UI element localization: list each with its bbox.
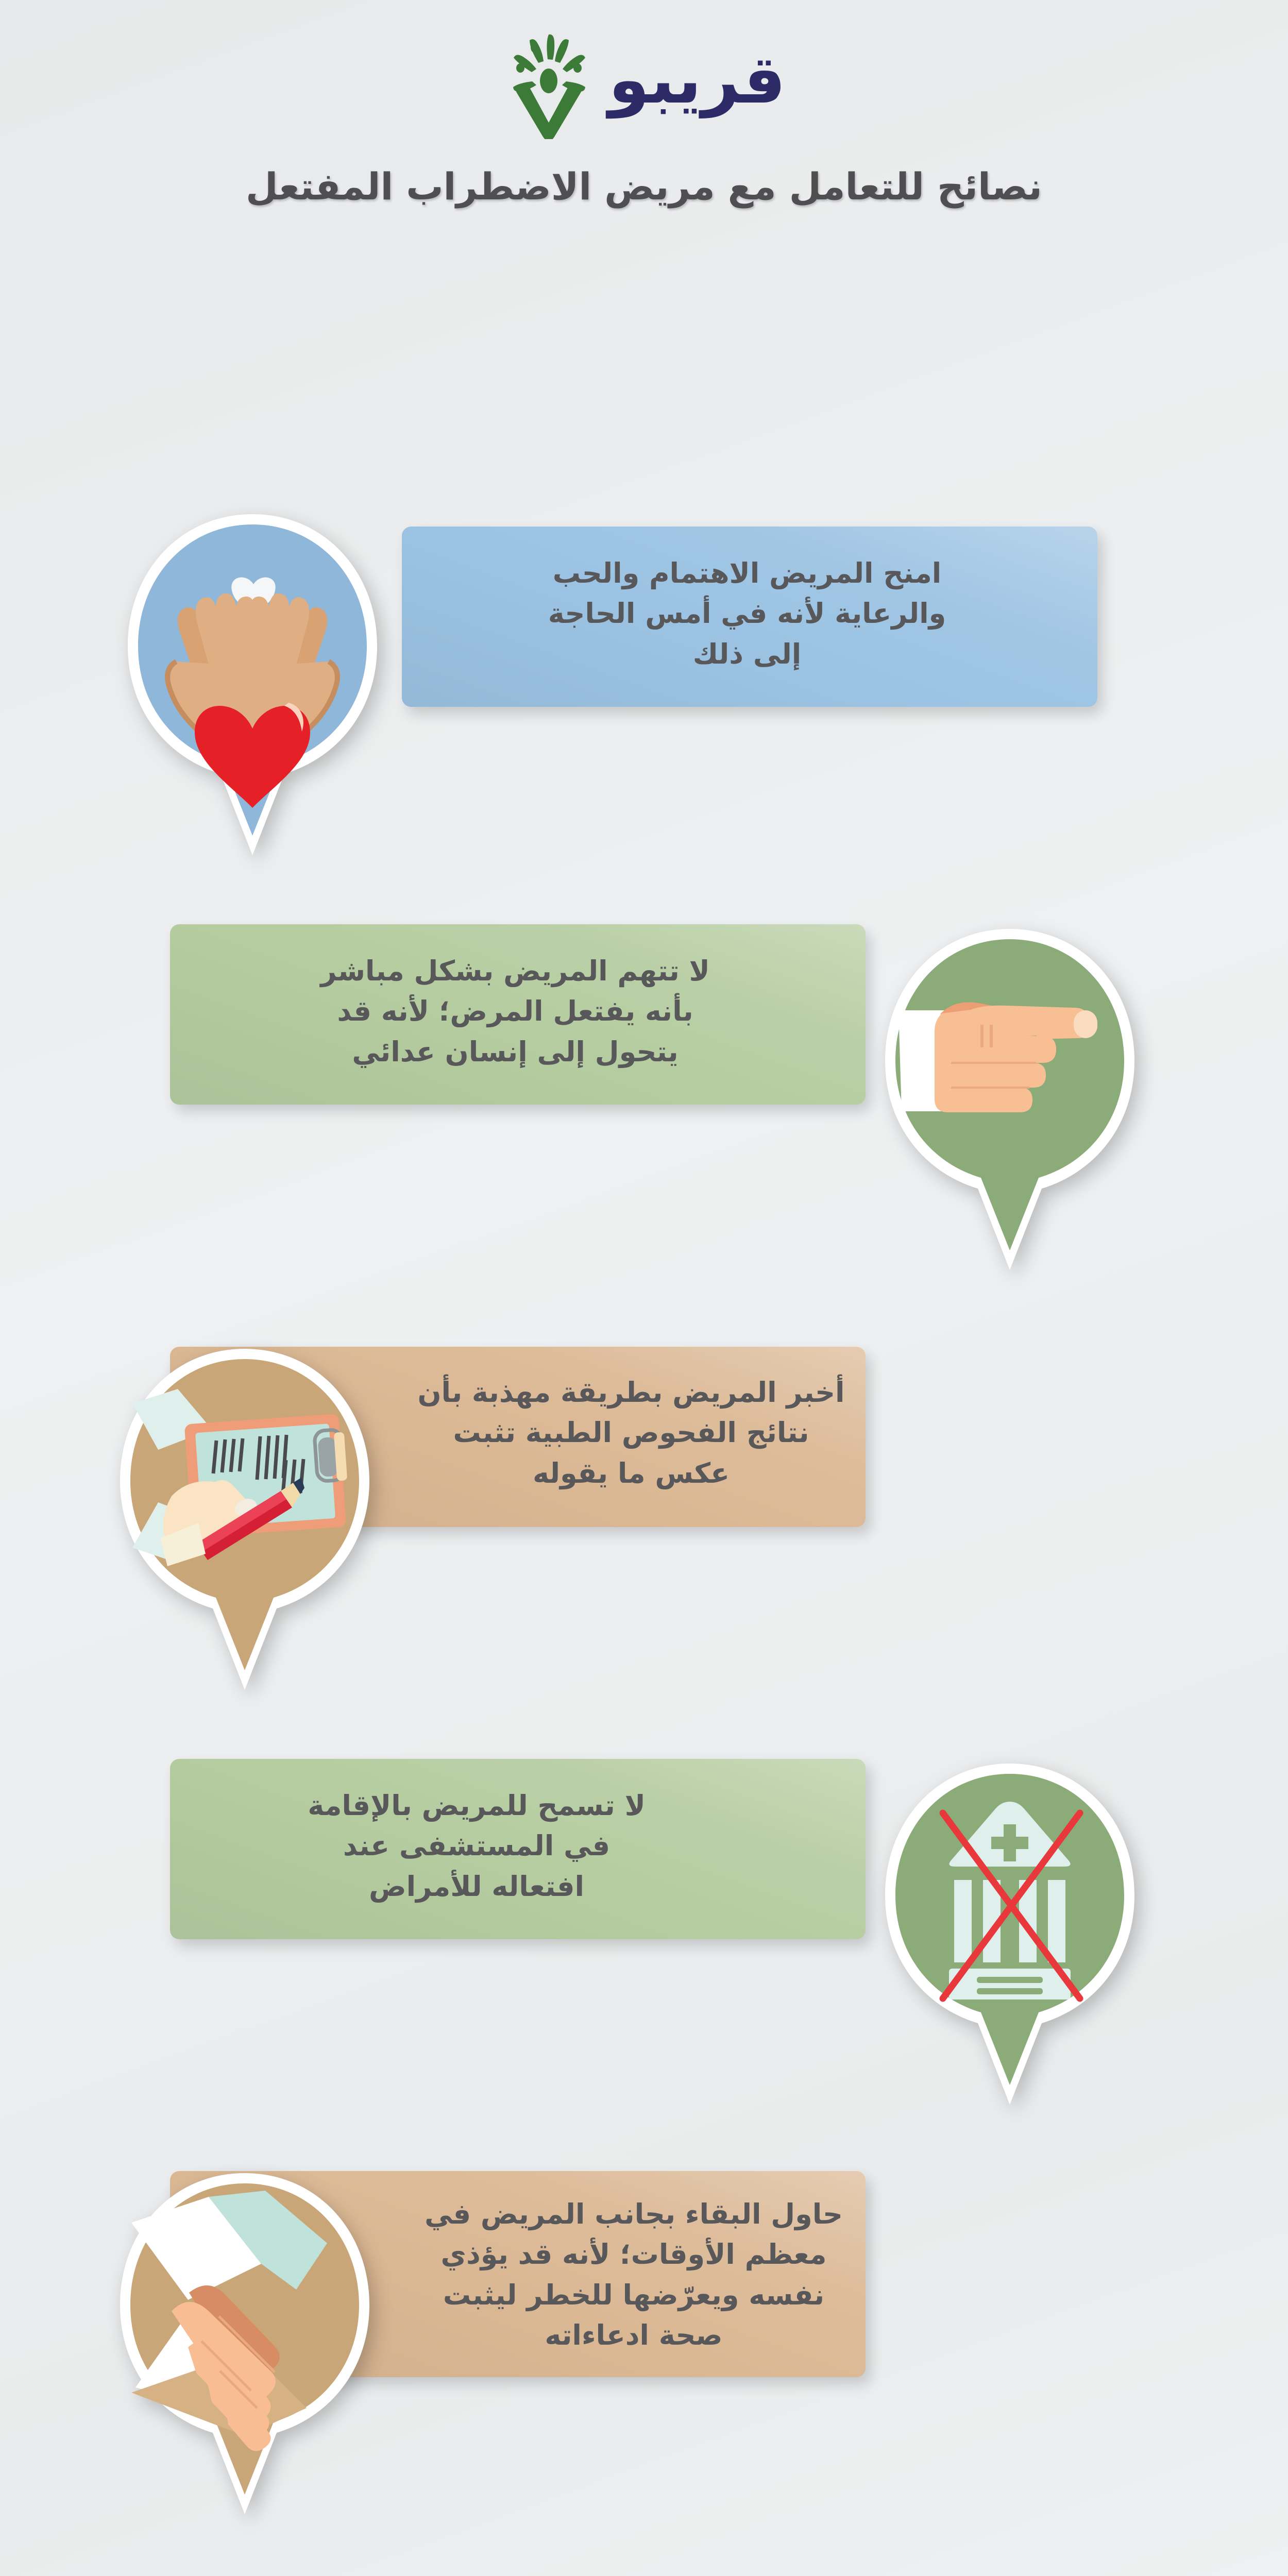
- clipboard-pencil-icon: [111, 1342, 379, 1697]
- brand-logo-wordmark: قريبو: [608, 47, 786, 123]
- hands-holding-heart-icon: [118, 507, 386, 862]
- page-title: نصائح للتعامل مع مريض الاضطراب المفتعل: [0, 165, 1288, 208]
- pointing-hand-icon: [876, 922, 1144, 1277]
- hospital-crossed-out-icon: [876, 1756, 1144, 2112]
- handshake-icon: [111, 2166, 379, 2521]
- green-person-sprout-logo-icon: [502, 31, 595, 139]
- brand-logo: قريبو: [0, 21, 1288, 149]
- tip-text-1: امنح المريض الاهتمام والحب والرعاية لأنه…: [412, 553, 1082, 674]
- tip-text-3: أخبر المريض بطريقة مهذبة بأن نتائج الفحو…: [402, 1372, 860, 1494]
- tip-text-4: لا تسمح للمريض بالإقامة في المستشفى عند …: [180, 1786, 773, 1907]
- tip-text-2: لا تتهم المريض بشكل مباشر بأنه يفتعل الم…: [180, 951, 850, 1072]
- tip-text-5: حاول البقاء بجانب المريض في معظم الأوقات…: [407, 2194, 860, 2355]
- page-header: قريبو نصائح للتعامل مع مريض الاضطراب الم…: [0, 0, 1288, 208]
